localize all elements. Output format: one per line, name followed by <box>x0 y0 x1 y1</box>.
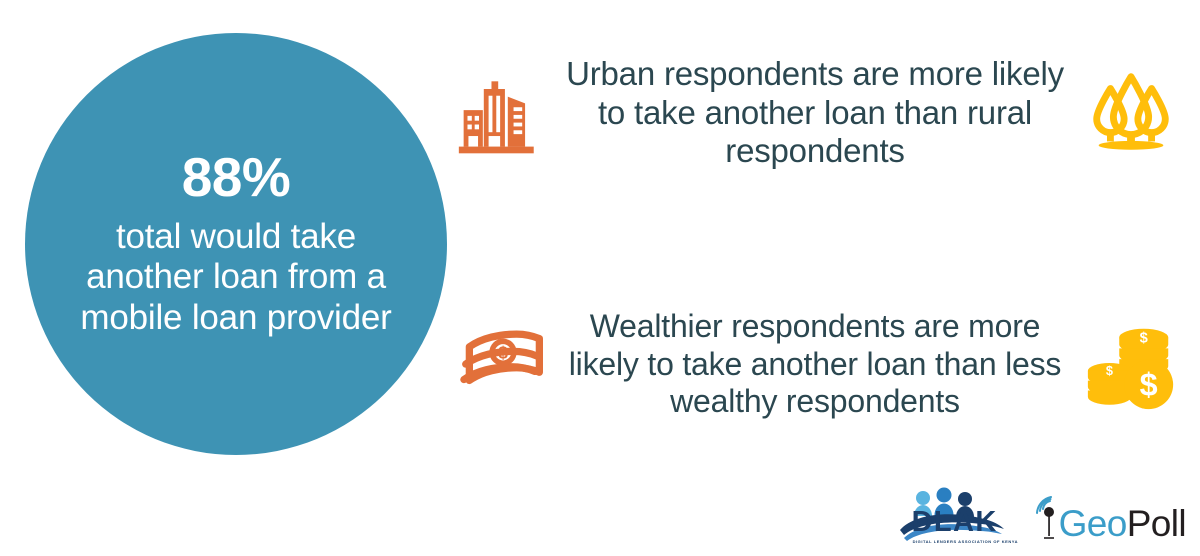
infographic-canvas: 88% total would take another loan from a… <box>0 0 1200 556</box>
statement-row-urban-vs-rural: Urban respondents are more likely to tak… <box>448 38 1190 188</box>
trees-icon <box>1072 64 1190 162</box>
statement-row-wealth-comparison: $ Wealthier respondents are more likely … <box>448 272 1190 457</box>
statement-text-wealth-comparison: Wealthier respondents are more likely to… <box>558 308 1072 420</box>
signal-antenna-icon <box>1034 496 1060 542</box>
stat-circle: 88% total would take another loan from a… <box>25 33 447 455</box>
svg-text:$: $ <box>1140 330 1148 346</box>
logo-bar: DLAK DIGITAL LENDERS ASSOCIATION OF KENY… <box>898 486 1186 548</box>
svg-text:$: $ <box>498 342 508 362</box>
banknotes-icon: $ <box>448 320 558 410</box>
geopoll-wordmark-geo: Geo <box>1059 503 1127 544</box>
dlak-logo: DLAK DIGITAL LENDERS ASSOCIATION OF KENY… <box>898 486 1020 548</box>
statement-text-urban-vs-rural: Urban respondents are more likely to tak… <box>558 55 1072 171</box>
svg-text:$: $ <box>1140 366 1158 402</box>
svg-text:$: $ <box>1106 362 1113 377</box>
stat-value: 88% <box>182 150 291 205</box>
geopoll-logo: GeoPoll <box>1034 486 1186 548</box>
coins-icon: $ $ $ <box>1072 316 1190 414</box>
dlak-tagline: DIGITAL LENDERS ASSOCIATION OF KENYA <box>913 540 1019 544</box>
geopoll-wordmark-poll: Poll <box>1127 503 1186 544</box>
city-buildings-icon <box>448 65 558 161</box>
dlak-wordmark: DLAK <box>912 508 998 537</box>
stat-caption: total would take another loan from a mob… <box>59 217 413 339</box>
